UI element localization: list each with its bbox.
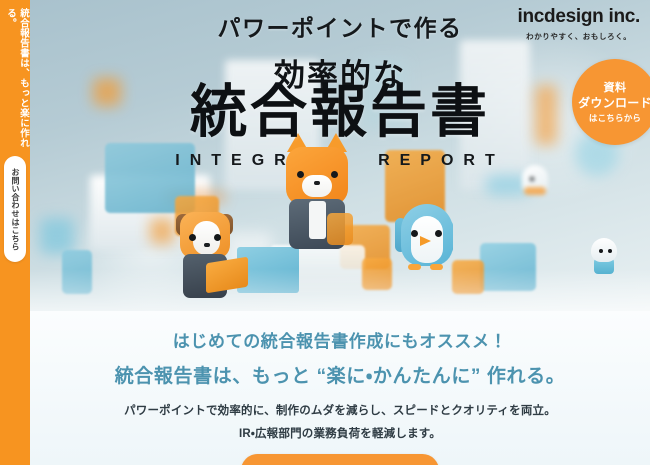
blob-character (590, 238, 620, 280)
bg-orange-small (150, 218, 174, 244)
blob-right-eye (608, 249, 612, 253)
floor-glow (30, 269, 650, 311)
penguin-right-foot (430, 264, 443, 270)
brand-logo[interactable]: incdesign inc. わかりやすく、おもしろく。 (518, 6, 641, 42)
fox-right-eye (331, 171, 338, 178)
lower-body-line-2: IR・広報部門の業務負荷を軽減します。 (30, 425, 650, 441)
fox-document (327, 213, 353, 245)
dog-nose (204, 243, 210, 247)
fox-nose (314, 181, 320, 185)
fox-shirt (309, 201, 326, 239)
penguin-character (398, 198, 458, 294)
fox-muzzle (302, 175, 332, 197)
dog-right-eye (214, 234, 221, 241)
logo-tagline: わかりやすく、おもしろく。 (518, 31, 641, 42)
download-label-line1: 資料 (604, 81, 627, 95)
penguin-left-eye (411, 230, 418, 237)
hero-english-title: INTEGRATEDREPORT (30, 152, 650, 170)
small-penguin-eye (530, 177, 534, 181)
contact-button[interactable]: お問い合わせはこちら (4, 156, 26, 262)
download-label-line2: ダウンロード (578, 95, 650, 111)
lower-headline-1: はじめての統合報告書作成にもオススメ！ (30, 327, 650, 352)
download-label-line3: はこちらから (589, 112, 641, 124)
hero-title: 統合報告書 (30, 82, 650, 142)
download-button[interactable]: 資料 ダウンロード はこちらから (572, 59, 650, 145)
hero-english-left: INTEGR (175, 152, 295, 169)
dog-left-eye (189, 234, 196, 241)
dog-character (178, 210, 236, 300)
left-side-rail: 統合報告書は、もっと楽に作れる。 お問い合わせはこちら (0, 0, 30, 465)
contact-button-label: お問い合わせはこちら (10, 168, 20, 251)
lower-section: はじめての統合報告書作成にもオススメ！ 統合報告書は、もっと “楽に・かんたんに… (30, 311, 650, 465)
blob-left-eye (599, 249, 603, 253)
lower-headline-2: 統合報告書は、もっと “楽に・かんたんに” 作れる。 (30, 361, 650, 388)
landing-page: 統合報告書は、もっと楽に作れる。 お問い合わせはこちら (0, 0, 650, 465)
hero-english-right: REPORT (378, 152, 505, 169)
small-penguin-background (522, 165, 552, 199)
penguin-left-foot (408, 264, 421, 270)
logo-name: incdesign inc. (518, 6, 641, 28)
penguin-right-eye (435, 230, 442, 237)
bg-teal-block-left (40, 218, 74, 254)
hero-section: パワーポイントで作る 効率的な 統合報告書 INTEGRATEDREPORT i… (30, 0, 650, 311)
lower-body-line-1: パワーポイントで効率的に、制作のムダを減らし、スピードとクオリティを両立。 (30, 402, 650, 418)
blob-head (591, 238, 617, 262)
fox-left-eye (297, 171, 304, 178)
penguin-beak (420, 236, 431, 246)
rail-vertical-tagline: 統合報告書は、もっと楽に作れる。 (0, 8, 30, 158)
issues-cta-button[interactable]: こんな課題ありませんか？ (241, 454, 439, 465)
small-penguin-scarf (524, 187, 546, 195)
